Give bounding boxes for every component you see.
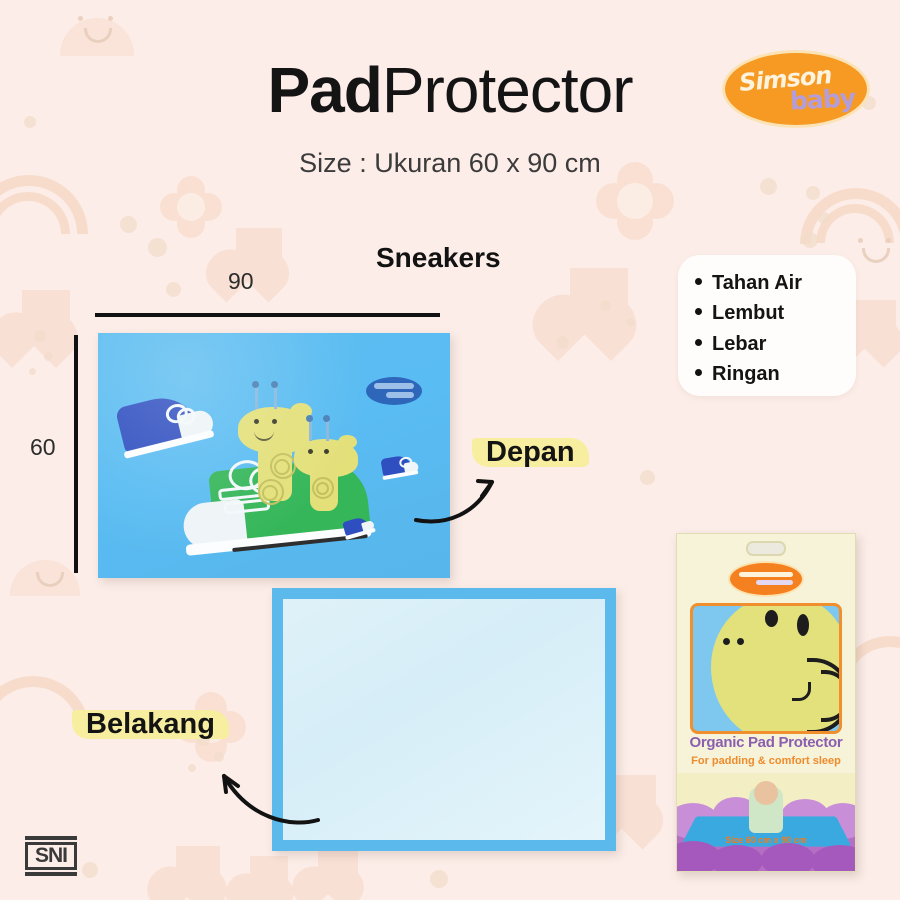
giraffe-neck	[258, 415, 292, 501]
page-subtitle: Size : Ukuran 60 x 90 cm	[0, 148, 900, 179]
package-title: Organic Pad Protector	[677, 734, 855, 751]
list-item: Lembut	[712, 298, 856, 328]
feature-list: Tahan Air Lembut Lebar Ringan	[678, 255, 856, 390]
giraffe-eye	[308, 449, 313, 454]
dot-decor	[640, 470, 655, 485]
hang-hole	[746, 541, 786, 556]
product-marketing-image: PadProtector Size : Ukuran 60 x 90 cm Si…	[0, 0, 900, 900]
giraffe-neck	[310, 445, 338, 511]
shoe-sole-stripe	[232, 534, 368, 552]
callout-back-label: Belakang	[86, 708, 215, 740]
width-dimension-line	[95, 313, 440, 317]
shoe-sole	[345, 528, 376, 540]
rainbow-decor	[816, 204, 894, 243]
giraffe-horn-knob	[271, 381, 278, 388]
shoe-lace	[218, 484, 271, 501]
shoe-lace	[248, 465, 283, 496]
sni-bottom-bar	[25, 872, 77, 876]
eye-decor	[858, 238, 863, 243]
dot-decor	[166, 282, 181, 297]
rainbow-decor	[800, 188, 900, 244]
giraffe-horn	[255, 387, 258, 409]
package-size-text: Size 60 cm x 90 cm	[677, 835, 855, 845]
list-item: Tahan Air	[712, 268, 856, 298]
shoe-lace	[227, 458, 266, 492]
dot-decor	[188, 764, 196, 772]
title-light-part: Protector	[382, 54, 633, 126]
rainbow-decor	[0, 192, 70, 234]
dot-decor	[148, 238, 167, 257]
blue-sneaker-tiny-2	[339, 511, 378, 543]
package-subtitle: For padding & comfort sleep	[677, 755, 855, 767]
giraffe-mouth	[254, 429, 274, 441]
dot-decor	[29, 368, 36, 375]
feature-label: Ringan	[712, 363, 780, 385]
brand-name-bottom: baby	[789, 83, 855, 115]
giraffe-spot-rings-inner	[821, 670, 842, 722]
sni-label: SNI	[25, 843, 77, 869]
shoe-lace	[398, 456, 413, 469]
heart-decor	[236, 228, 282, 270]
smile-decor	[36, 572, 64, 587]
dot-decor	[760, 178, 777, 195]
title-bold-part: Pad	[267, 54, 381, 126]
green-sneaker-main	[171, 441, 387, 572]
shoe-lace	[164, 402, 190, 426]
feature-list-card: Tahan Air Lembut Lebar Ringan	[678, 255, 856, 396]
arrow-to-back-callout	[200, 752, 330, 832]
mat-printed-logo	[366, 377, 422, 405]
rainbow-decor	[0, 175, 88, 234]
height-dimension-label: 60	[30, 434, 56, 461]
eye-decor	[886, 238, 891, 243]
pad-back-surface	[283, 599, 605, 840]
giraffe-spot	[312, 477, 334, 499]
dot-decor	[430, 870, 448, 888]
feature-label: Tahan Air	[712, 272, 802, 294]
sni-top-bar	[25, 836, 77, 840]
giraffe-eye-print	[737, 638, 744, 645]
package-window	[690, 603, 842, 734]
cloud-shape-dark	[811, 845, 855, 871]
sni-certification-icon: SNI	[25, 836, 77, 876]
giraffe-spot	[274, 459, 290, 475]
height-dimension-line	[74, 335, 78, 573]
giraffe-horn-knob	[306, 415, 313, 422]
cloud-shape-dark	[711, 845, 763, 871]
shoe-body	[208, 456, 371, 544]
shoe-sole	[186, 526, 372, 556]
dot-decor	[34, 330, 46, 342]
giraffe-eye	[324, 449, 329, 454]
product-package-box: Organic Pad Protector For padding & comf…	[676, 533, 856, 872]
heart-decor	[22, 290, 70, 334]
shoe-toe	[361, 520, 375, 532]
heart-decor	[250, 856, 288, 890]
cloud-shape-dark	[761, 843, 815, 871]
giraffe-ear	[290, 403, 312, 420]
brand-logo: Simson baby	[722, 50, 870, 128]
pad-front-view	[98, 333, 450, 578]
callout-front: Depan	[472, 434, 589, 471]
feature-label: Lebar	[712, 333, 766, 355]
flower-decor	[160, 176, 222, 238]
cloud-decor	[60, 18, 134, 56]
giraffe-horn-knob	[323, 415, 330, 422]
list-item: Lebar	[712, 329, 856, 359]
arrow-to-front-callout	[412, 462, 532, 532]
giraffe-spot	[262, 485, 278, 501]
giraffe-eye	[272, 419, 277, 424]
heart-decor	[570, 268, 628, 320]
dot-decor	[82, 862, 98, 878]
width-dimension-label: 90	[228, 268, 254, 295]
giraffe-horn-knob	[252, 381, 259, 388]
variant-label: Sneakers	[376, 242, 501, 274]
heart-decor	[176, 846, 220, 886]
giraffe-ear	[338, 435, 357, 449]
dot-decor	[556, 336, 569, 349]
giraffe-horn	[309, 421, 312, 441]
smile-decor	[84, 28, 112, 43]
eye-decor	[108, 16, 113, 21]
shoe-toe	[176, 408, 215, 441]
giraffe-horn	[274, 387, 277, 409]
dot-decor	[802, 232, 818, 248]
giraffe-head	[294, 439, 358, 477]
shoe-lace	[223, 498, 270, 515]
shoe-body	[115, 390, 202, 454]
heart-decor	[318, 848, 358, 884]
dot-decor	[806, 186, 820, 200]
callout-back: Belakang	[72, 706, 229, 743]
giraffe-spot	[270, 453, 296, 479]
dot-decor	[120, 216, 137, 233]
shoe-sole	[124, 430, 215, 459]
blue-sneaker-small	[110, 380, 223, 468]
giraffe-ear-print	[765, 610, 778, 627]
heart-decor	[610, 775, 656, 817]
shoe-toe	[181, 499, 247, 551]
eye-decor	[78, 16, 83, 21]
dot-decor	[818, 212, 830, 224]
giraffe-ear-print	[797, 614, 809, 636]
package-brand-logo	[728, 561, 804, 597]
giraffe-horn	[326, 421, 329, 441]
dot-decor	[626, 318, 635, 327]
giraffe-small	[286, 415, 382, 511]
callout-front-label: Depan	[486, 436, 575, 468]
giraffe-eye-print	[723, 638, 730, 645]
feature-label: Lembut	[712, 302, 784, 324]
shoe-body	[380, 454, 413, 477]
package-lifestyle-scene: Size 60 cm x 90 cm	[677, 773, 855, 871]
shoe-lace	[175, 406, 198, 427]
giraffe-large	[228, 381, 338, 501]
giraffe-eye	[254, 419, 259, 424]
giraffe-head	[238, 407, 312, 453]
dot-decor	[44, 352, 53, 361]
baby-head	[754, 781, 778, 805]
dot-decor	[600, 300, 611, 311]
giraffe-spot	[258, 479, 284, 505]
list-item: Ringan	[712, 359, 856, 389]
smile-decor	[862, 248, 890, 263]
heart-decor	[854, 300, 896, 338]
giraffe-spot	[316, 482, 329, 495]
cloud-decor	[10, 560, 80, 596]
shoe-body	[342, 516, 370, 537]
